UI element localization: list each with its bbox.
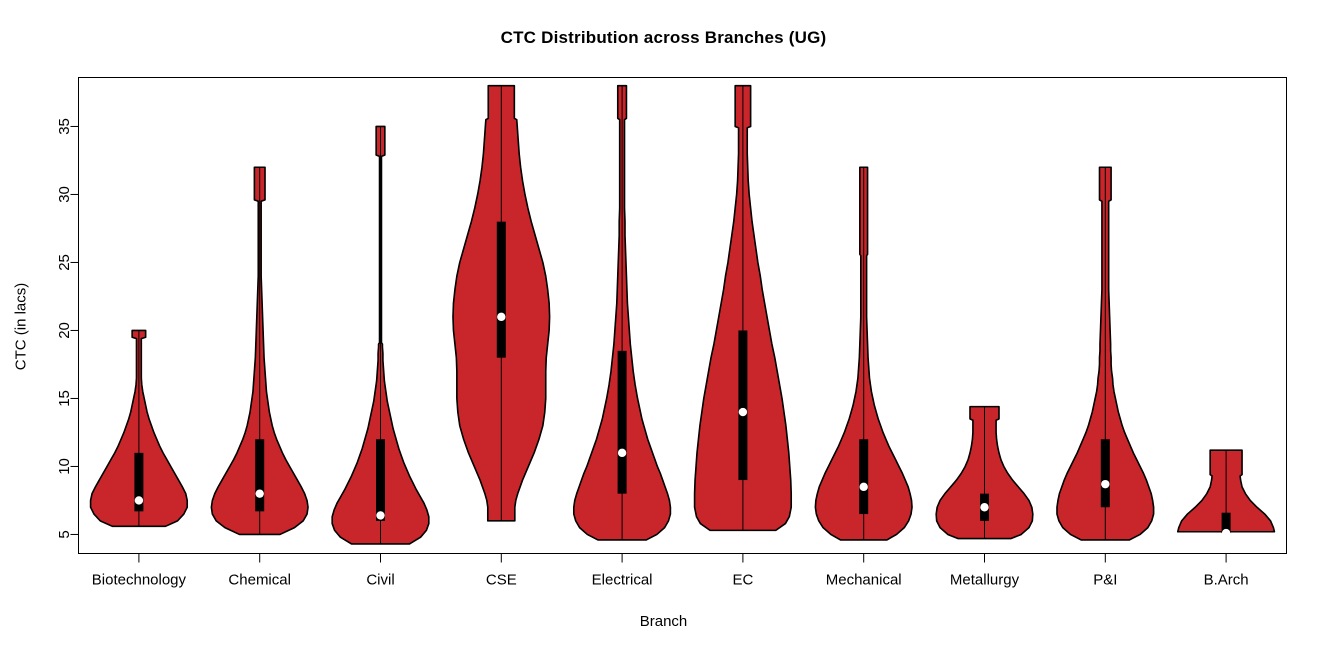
median-marker bbox=[980, 503, 988, 511]
x-axis-tick-label-p-i: P&I bbox=[1093, 572, 1117, 589]
violin-metallurgy bbox=[936, 407, 1033, 539]
x-axis-tick-label-electrical: Electrical bbox=[592, 572, 653, 589]
x-axis-tick-label-cse: CSE bbox=[486, 572, 517, 589]
interquartile-box bbox=[376, 439, 385, 521]
chart-canvas: 5101520253035 BiotechnologyChemicalCivil… bbox=[0, 0, 1327, 653]
interquartile-box bbox=[618, 351, 627, 494]
y-axis-tick-label: 15 bbox=[56, 390, 73, 407]
y-axis-tick-label: 20 bbox=[56, 322, 73, 339]
interquartile-box bbox=[859, 439, 868, 514]
interquartile-box bbox=[255, 439, 264, 511]
median-marker bbox=[256, 489, 264, 497]
median-marker bbox=[135, 496, 143, 504]
x-axis-tick-label-mechanical: Mechanical bbox=[826, 572, 902, 589]
median-marker bbox=[376, 511, 384, 519]
violin-ec bbox=[695, 86, 792, 531]
x-axis-tick-label-b-arch: B.Arch bbox=[1204, 572, 1249, 589]
x-axis-tick-label-metallurgy: Metallurgy bbox=[950, 572, 1020, 589]
median-marker bbox=[860, 483, 868, 491]
y-axis-tick-label: 10 bbox=[56, 458, 73, 475]
median-marker bbox=[1222, 529, 1230, 537]
violin-electrical bbox=[574, 86, 671, 540]
violin-p-i bbox=[1057, 167, 1154, 540]
x-axis-tick-label-biotechnology: Biotechnology bbox=[92, 572, 187, 589]
y-axis-tick-label: 5 bbox=[56, 530, 73, 538]
interquartile-box bbox=[738, 330, 747, 480]
interquartile-box bbox=[497, 222, 506, 358]
violin-series-group bbox=[91, 86, 1275, 544]
x-axis-tick-label-ec: EC bbox=[732, 572, 753, 589]
x-axis-tick-label-chemical: Chemical bbox=[228, 572, 291, 589]
y-axis-tick-label: 30 bbox=[56, 186, 73, 203]
y-axis-tick-label: 35 bbox=[56, 118, 73, 135]
y-axis-tick-label: 25 bbox=[56, 254, 73, 271]
violin-plot-figure: CTC Distribution across Branches (UG) CT… bbox=[0, 0, 1327, 653]
median-marker bbox=[618, 449, 626, 457]
violin-biotechnology bbox=[91, 330, 188, 526]
violin-b-arch bbox=[1178, 450, 1275, 537]
violin-mechanical bbox=[815, 167, 912, 540]
x-axis-tick-label-civil: Civil bbox=[366, 572, 394, 589]
violin-cse bbox=[453, 86, 550, 521]
interquartile-box bbox=[1101, 439, 1110, 507]
violin-civil bbox=[332, 126, 429, 544]
median-marker bbox=[497, 313, 505, 321]
x-axis: BiotechnologyChemicalCivilCSEElectricalE… bbox=[92, 554, 1249, 589]
violin-chemical bbox=[211, 167, 308, 534]
median-marker bbox=[1101, 480, 1109, 488]
y-axis: 5101520253035 bbox=[56, 118, 79, 539]
median-marker bbox=[739, 408, 747, 416]
